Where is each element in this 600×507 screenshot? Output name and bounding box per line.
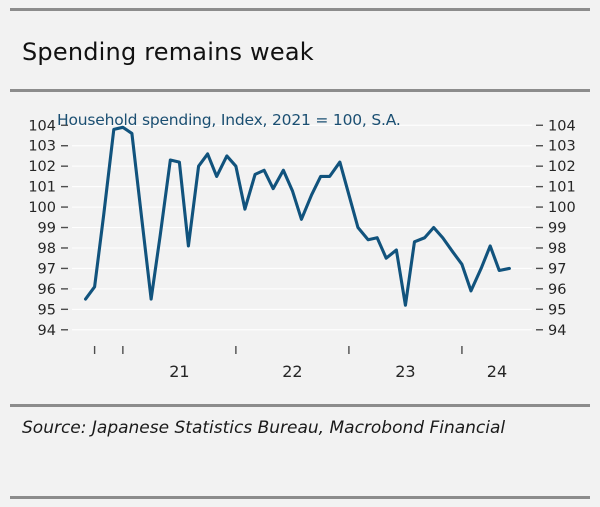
y-axis-tick-label: 103 — [28, 139, 56, 155]
y-axis-tick-label: 94 — [548, 323, 566, 339]
source-note: Source: Japanese Statistics Bureau, Macr… — [22, 414, 582, 442]
y-axis-tick-label: 98 — [38, 241, 56, 257]
y-axis-tick-label: 98 — [548, 241, 566, 257]
divider-top — [10, 8, 590, 11]
y-axis-tick-label: 97 — [38, 261, 56, 277]
y-axis-tick-label: 100 — [548, 200, 576, 216]
plot-background — [10, 95, 590, 395]
y-axis-tick-label: 104 — [28, 118, 56, 134]
divider-under-title — [10, 89, 590, 92]
y-axis-tick-label: 102 — [28, 159, 56, 175]
x-axis-tick-label: 22 — [282, 362, 302, 381]
x-axis-tick-label: 24 — [487, 362, 507, 381]
series-inline-label: Household spending, Index, 2021 = 100, S… — [57, 111, 401, 129]
chart-svg: 104103102101100999897969594 104103102101… — [10, 95, 590, 395]
y-axis-tick-label: 95 — [548, 302, 566, 318]
x-axis-tick-label: 23 — [395, 362, 415, 381]
y-axis-tick-label: 104 — [548, 118, 576, 134]
divider-above-source — [10, 404, 590, 407]
y-axis-tick-label: 99 — [38, 221, 56, 237]
y-axis-tick-label: 101 — [548, 180, 576, 196]
divider-bottom — [10, 496, 590, 499]
y-axis-tick-label: 100 — [28, 200, 56, 216]
y-axis-tick-label: 103 — [548, 139, 576, 155]
x-axis-tick-label: 21 — [169, 362, 189, 381]
y-axis-tick-label: 99 — [548, 221, 566, 237]
chart-card: Spending remains weak 104103102101100999… — [0, 0, 600, 507]
y-axis-tick-label: 94 — [38, 323, 56, 339]
y-axis-tick-label: 96 — [548, 282, 566, 298]
y-axis-tick-label: 101 — [28, 180, 56, 196]
y-axis-tick-label: 97 — [548, 261, 566, 277]
y-axis-tick-label: 102 — [548, 159, 576, 175]
page-title: Spending remains weak — [22, 38, 314, 66]
y-axis-tick-label: 96 — [38, 282, 56, 298]
y-axis-tick-label: 95 — [38, 302, 56, 318]
line-chart: 104103102101100999897969594 104103102101… — [10, 95, 590, 395]
